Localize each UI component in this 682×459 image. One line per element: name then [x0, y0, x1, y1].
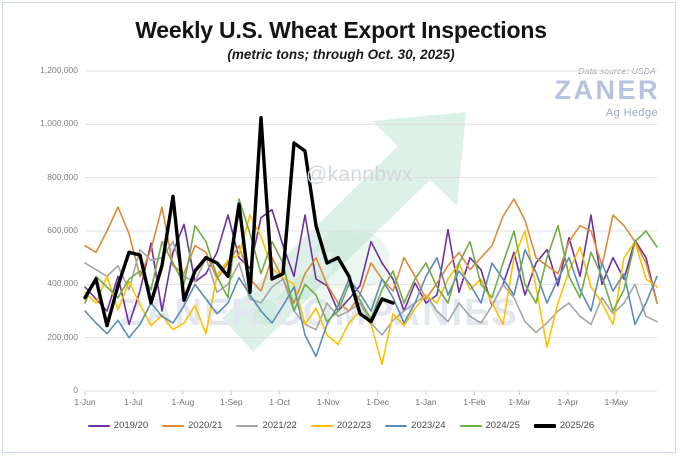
y-axis-tick-label: 1,000,000 — [8, 118, 78, 128]
legend-item-2021-22[interactable]: 2021/22 — [236, 420, 296, 431]
x-axis-tick-label: 1-Nov — [300, 397, 356, 407]
plot-svg — [0, 0, 682, 459]
legend-swatch-icon — [385, 425, 407, 427]
handle-watermark: @kannbwx — [306, 163, 413, 187]
x-axis-tick-label: 1-Jul — [105, 397, 161, 407]
wheat-export-inspections-chart: Weekly U.S. Wheat Export Inspections (me… — [0, 0, 682, 459]
legend-swatch-icon — [236, 425, 258, 427]
legend-swatch-icon — [311, 425, 333, 427]
legend-item-label: 2020/21 — [188, 420, 222, 431]
legend-swatch-icon — [162, 425, 184, 427]
y-axis-tick-label: 600,000 — [8, 225, 78, 235]
legend-swatch-icon — [534, 424, 556, 428]
legend-item-label: 2023/24 — [411, 420, 445, 431]
chart-legend: 2019/202020/212021/222022/232023/242024/… — [0, 420, 682, 431]
legend-swatch-icon — [460, 425, 482, 427]
legend-item-2019-20[interactable]: 2019/20 — [88, 420, 148, 431]
y-axis-tick-label: 200,000 — [8, 332, 78, 342]
x-axis-tick-label: 1-May — [588, 397, 644, 407]
y-axis-tick-label: 0 — [8, 385, 78, 395]
y-axis-tick-label: 400,000 — [8, 278, 78, 288]
legend-item-2022-23[interactable]: 2022/23 — [311, 420, 371, 431]
y-axis-tick-label: 800,000 — [8, 172, 78, 182]
y-axis-tick-label: 1,200,000 — [8, 65, 78, 75]
legend-item-label: 2021/22 — [262, 420, 296, 431]
legend-item-label: 2019/20 — [114, 420, 148, 431]
plot-area: 0200,000400,000600,000800,0001,000,0001,… — [0, 0, 682, 459]
series-line-2025-26 — [85, 118, 393, 326]
legend-swatch-icon — [88, 425, 110, 427]
legend-item-2023-24[interactable]: 2023/24 — [385, 420, 445, 431]
legend-item-2020-21[interactable]: 2020/21 — [162, 420, 222, 431]
legend-item-2025-26[interactable]: 2025/26 — [534, 420, 594, 431]
legend-item-2024-25[interactable]: 2024/25 — [460, 420, 520, 431]
legend-item-label: 2024/25 — [486, 420, 520, 431]
legend-item-label: 2022/23 — [337, 420, 371, 431]
legend-item-label: 2025/26 — [560, 420, 594, 431]
